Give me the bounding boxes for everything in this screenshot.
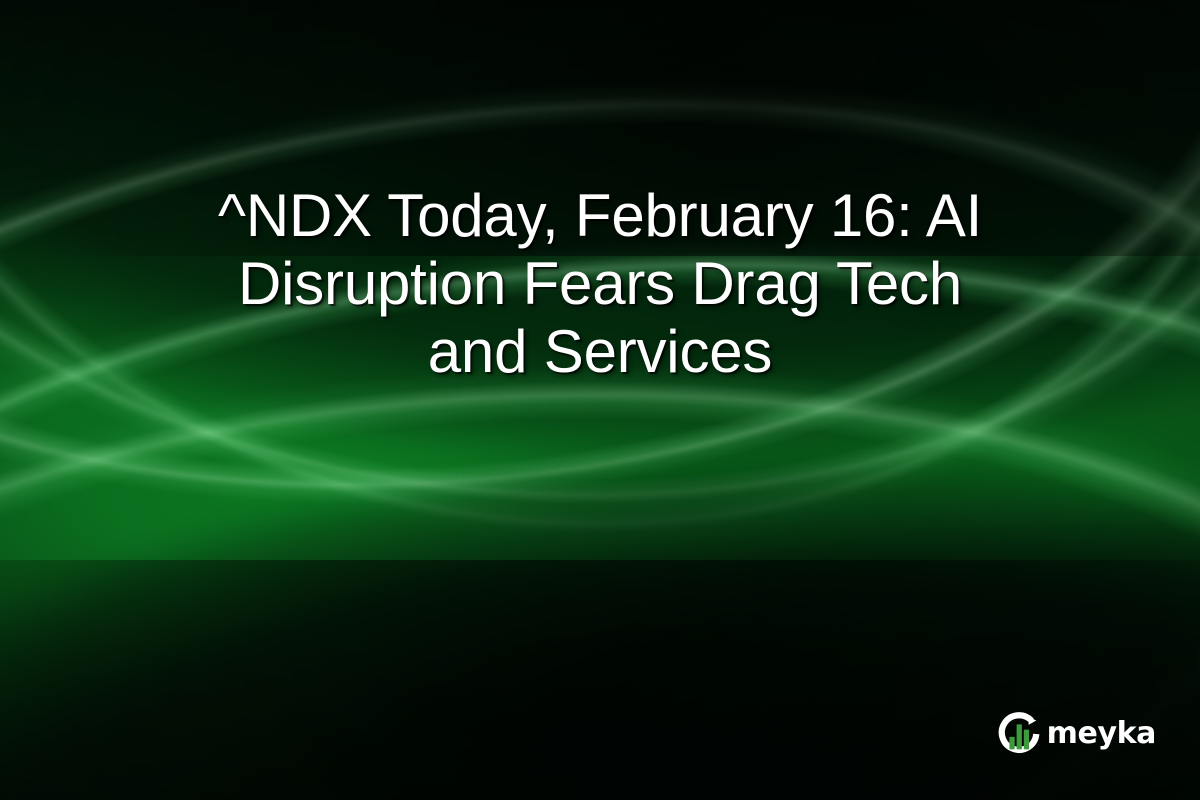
background-vignette <box>0 0 1200 800</box>
meyka-circular-bar-chart-icon <box>995 710 1043 758</box>
headline-line-2: Disruption Fears Drag Tech <box>238 250 962 317</box>
page-title: ^NDX Today, February 16: AI Disruption F… <box>72 182 1128 385</box>
headline-line-1: ^NDX Today, February 16: AI <box>218 182 982 249</box>
headline-block: ^NDX Today, February 16: AI Disruption F… <box>0 182 1200 385</box>
article-cover-card: ^NDX Today, February 16: AI Disruption F… <box>0 0 1200 800</box>
meyka-wordmark: meyka <box>1047 719 1156 749</box>
meyka-logo[interactable]: meyka <box>995 710 1156 758</box>
headline-line-3: and Services <box>428 318 772 385</box>
